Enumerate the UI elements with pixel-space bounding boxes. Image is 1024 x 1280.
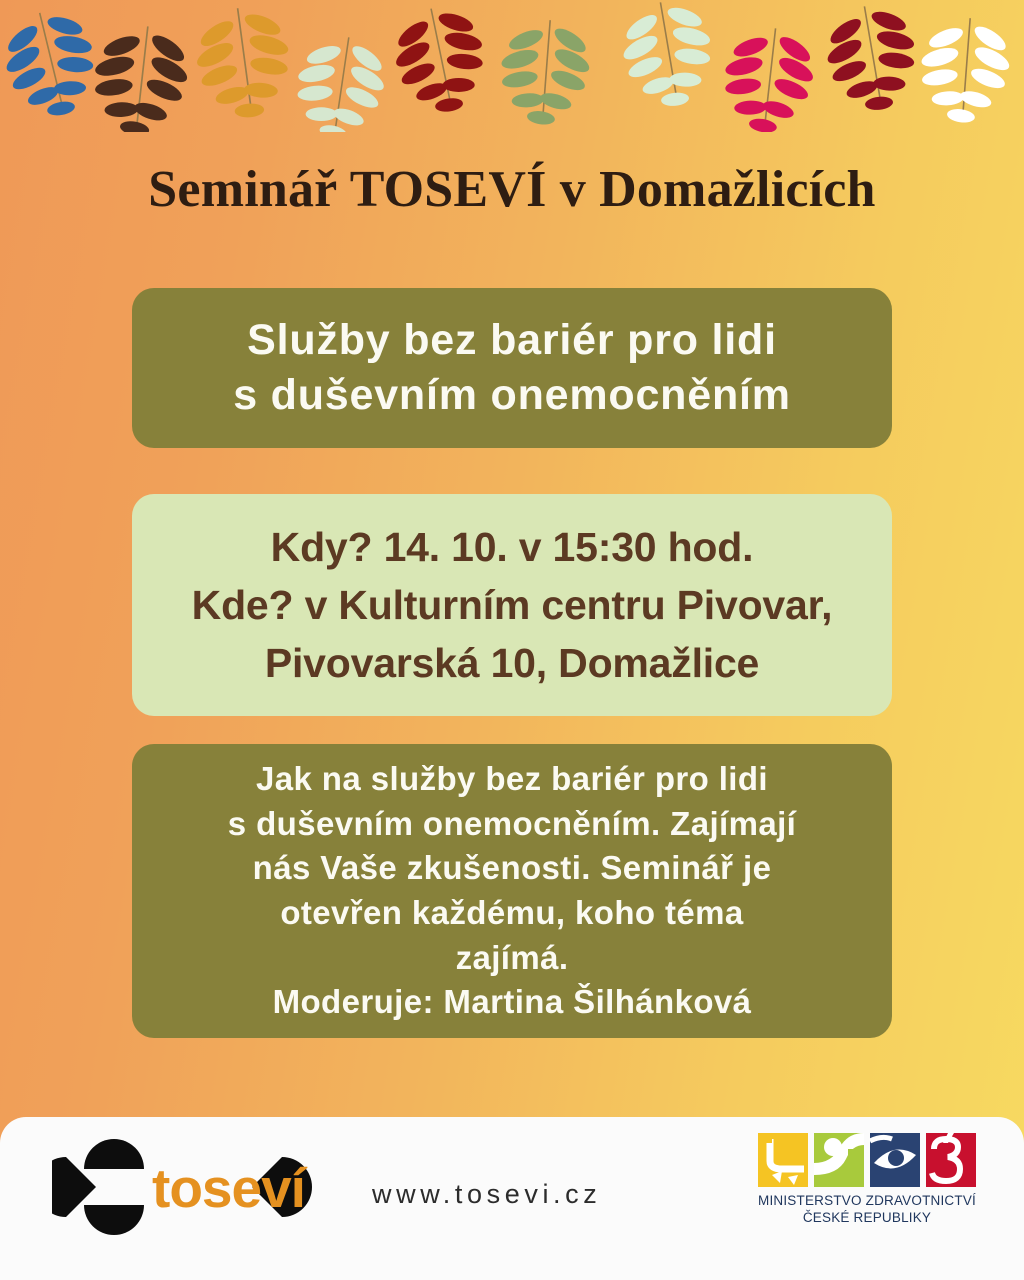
- topic-box: Služby bez bariér pro lidi s duševním on…: [132, 288, 892, 448]
- topic-line-1: Služby bez bariér pro lidi: [247, 313, 777, 368]
- desc-line-3: nás Vaše zkušenosti. Seminář je: [253, 846, 772, 891]
- footer-bar: toseví www.tosevi.cz: [0, 1117, 1024, 1280]
- leaf-icon: [913, 13, 1017, 127]
- ministry-marks-svg: [758, 1133, 976, 1187]
- leaf-icon: [818, 0, 925, 117]
- tosevi-logo[interactable]: toseví: [52, 1135, 317, 1247]
- leaf-icon: [493, 15, 597, 129]
- topic-line-2: s duševním onemocněním: [233, 368, 791, 423]
- leaf-icon: [614, 0, 721, 113]
- ministry-name-line-1: MINISTERSTVO ZDRAVOTNICTVÍ: [752, 1192, 982, 1209]
- leaf-icon: [286, 29, 394, 132]
- ministry-name: MINISTERSTVO ZDRAVOTNICTVÍ ČESKÉ REPUBLI…: [752, 1192, 982, 1227]
- desc-line-1: Jak na služby bez bariér pro lidi: [256, 757, 768, 802]
- ministry-name-line-2: ČESKÉ REPUBLIKY: [752, 1209, 982, 1226]
- poster-root: Seminář TOSEVÍ v Domažlicích Služby bez …: [0, 0, 1024, 1280]
- ministry-mark-green: [814, 1133, 864, 1187]
- leaf-decoration-band: [0, 0, 1024, 130]
- moderator-line: Moderuje: Martina Šilhánková: [273, 980, 752, 1025]
- tosevi-wordmark: toseví: [152, 1157, 308, 1219]
- leaf-icon: [189, 3, 298, 123]
- desc-line-5: zajímá.: [456, 936, 569, 981]
- leaf-icon: [0, 3, 107, 125]
- leaf-icon: [715, 22, 822, 132]
- desc-line-4: otevřen každému, koho téma: [280, 891, 743, 936]
- page-title: Seminář TOSEVÍ v Domažlicích: [0, 160, 1024, 219]
- address-line: Pivovarská 10, Domažlice: [265, 634, 759, 692]
- description-box: Jak na služby bez bariér pro lidi s duše…: [132, 744, 892, 1038]
- ministry-mark-navy: [870, 1133, 920, 1187]
- ministry-logo: MINISTERSTVO ZDRAVOTNICTVÍ ČESKÉ REPUBLI…: [752, 1133, 982, 1227]
- leaf-icon: [84, 20, 196, 132]
- leaves-svg: [0, 0, 1024, 132]
- desc-line-2: s duševním onemocněním. Zajímají: [228, 802, 796, 847]
- website-url[interactable]: www.tosevi.cz: [372, 1179, 601, 1210]
- when-where-box: Kdy? 14. 10. v 15:30 hod. Kde? v Kulturn…: [132, 494, 892, 716]
- when-line: Kdy? 14. 10. v 15:30 hod.: [271, 518, 754, 576]
- where-line: Kde? v Kulturním centru Pivovar,: [192, 576, 833, 634]
- tosevi-logo-svg: toseví: [52, 1135, 317, 1247]
- leaf-icon: [385, 1, 495, 121]
- ministry-mark-yellow: [758, 1133, 808, 1187]
- ministry-marks-icon: [752, 1133, 982, 1187]
- ministry-mark-red: [926, 1133, 976, 1187]
